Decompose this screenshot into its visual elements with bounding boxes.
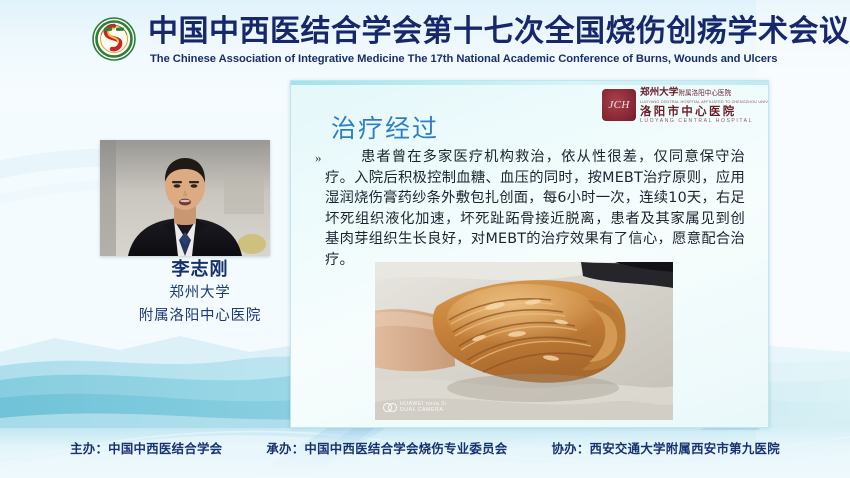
- speaker-video-frame: [100, 140, 270, 256]
- conference-title-chinese: 中国中西医结合学会第十七次全国烧伤创疡学术会议: [148, 14, 772, 50]
- photo-camera-watermark: HUAWEI nova 3i DUAL CAMERA: [383, 401, 446, 413]
- conference-broadcast-screen: 中国中西医结合学会第十七次全国烧伤创疡学术会议 The Chinese Asso…: [0, 0, 850, 478]
- caim-emblem-logo-icon: [92, 17, 136, 61]
- conference-title-english: The Chinese Association of Integrative M…: [150, 52, 774, 66]
- hospital-name-line1: 郑州大学附属洛阳中心医院: [640, 87, 762, 99]
- footer-co-organizer: 协办：西安交通大学附属西安市第九医院: [551, 439, 779, 457]
- hospital-logo: JCH 郑州大学附属洛阳中心医院 LUOYANG CENTRAL HOSPITA…: [602, 87, 762, 123]
- hospital-name-en: LUOYANG CENTRAL HOSPITAL: [640, 118, 762, 125]
- footer-organizers: 主办：中国中西医结合学会 承办：中国中西医结合学会烧伤专业委员会 协办：西安交通…: [0, 439, 850, 457]
- speaker-name: 李志刚: [100, 258, 300, 282]
- watermark-line2: DUAL CAMERA: [400, 407, 443, 413]
- slide-top-accent-bar: [291, 81, 768, 85]
- watermark-line1: HUAWEI nova 3i: [400, 401, 446, 407]
- speaker-org-line1: 郑州大学: [100, 282, 300, 305]
- dual-camera-icon: [383, 403, 397, 410]
- hospital-seal-icon: JCH: [602, 89, 636, 121]
- footer-host: 主办：中国中西医结合学会: [70, 439, 222, 457]
- slide-title: 治疗经过: [331, 114, 439, 144]
- wound-dressing-photo: HUAWEI nova 3i DUAL CAMERA: [375, 262, 673, 420]
- speaker-org-line2: 附属洛阳中心医院: [100, 305, 300, 328]
- footer-organizer: 承办：中国中西医结合学会烧伤专业委员会: [266, 439, 507, 457]
- speaker-video-tile[interactable]: [100, 140, 270, 256]
- conference-header: 中国中西医结合学会第十七次全国烧伤创疡学术会议 The Chinese Asso…: [0, 0, 850, 78]
- hospital-seal-text: JCH: [602, 89, 636, 121]
- hospital-logo-text: 郑州大学附属洛阳中心医院 LUOYANG CENTRAL HOSPITAL AF…: [640, 87, 762, 125]
- presentation-slide[interactable]: JCH 郑州大学附属洛阳中心医院 LUOYANG CENTRAL HOSPITA…: [290, 80, 769, 428]
- watermark-text: HUAWEI nova 3i DUAL CAMERA: [400, 401, 446, 413]
- slide-body-text: 患者曾在多家医疗机构救治，依从性很差，仅同意保守治疗。入院后积极控制血糖、血压的…: [325, 147, 745, 270]
- speaker-caption: 李志刚 郑州大学 附属洛阳中心医院: [100, 258, 300, 328]
- hospital-name-line3: 洛阳市中心医院: [640, 105, 762, 118]
- hospital-name-main: 郑州大学: [640, 87, 678, 98]
- slide-bullet-marker: »: [315, 150, 322, 166]
- conference-footer: 主办：中国中西医结合学会 承办：中国中西医结合学会烧伤专业委员会 协办：西安交通…: [0, 428, 850, 478]
- hospital-name-sub: 附属洛阳中心医院: [678, 89, 731, 97]
